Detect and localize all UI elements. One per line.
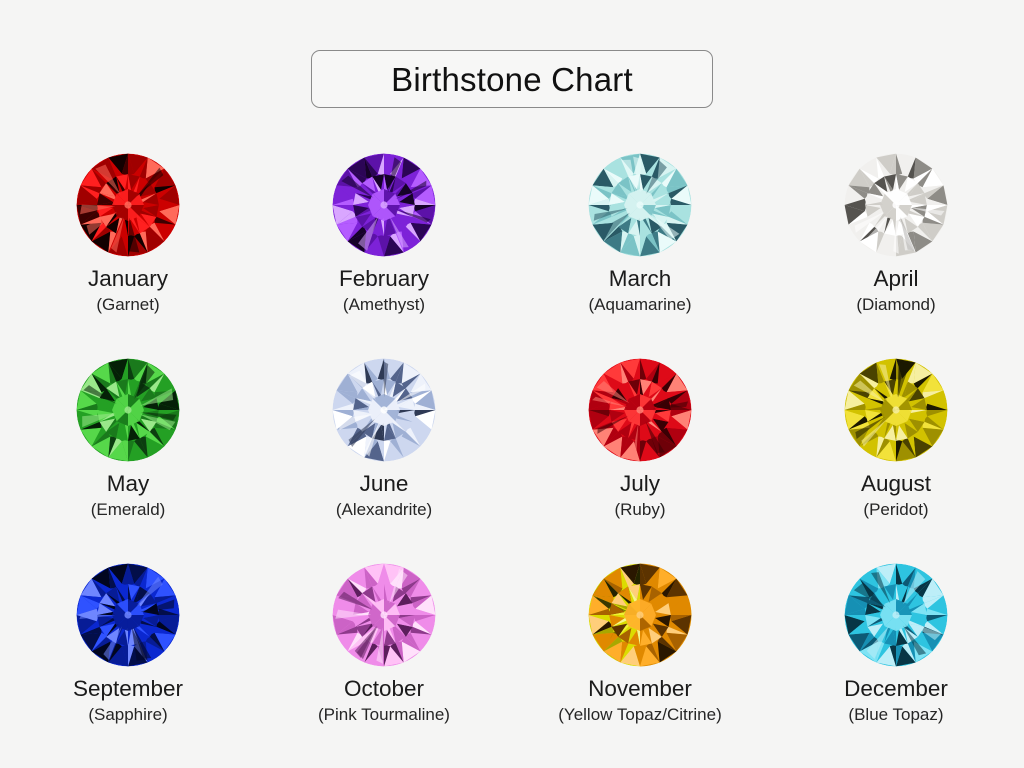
birthstone-stone-label: (Garnet) xyxy=(96,296,159,314)
birthstone-grid: January(Garnet)February(Amethyst)March(A… xyxy=(0,140,1024,755)
birthstone-cell-alexandrite[interactable]: June(Alexandrite) xyxy=(256,345,512,550)
birthstone-month-label: August xyxy=(861,472,931,496)
birthstone-month-label: July xyxy=(620,472,660,496)
birthstone-cell-garnet[interactable]: January(Garnet) xyxy=(0,140,256,345)
birthstone-cell-ruby[interactable]: July(Ruby) xyxy=(512,345,768,550)
birthstone-cell-peridot[interactable]: August(Peridot) xyxy=(768,345,1024,550)
birthstone-month-label: September xyxy=(73,677,183,701)
gem-garnet-icon xyxy=(75,152,181,258)
birthstone-month-label: February xyxy=(339,267,429,291)
birthstone-stone-label: (Diamond) xyxy=(856,296,935,314)
birthstone-cell-diamond[interactable]: April(Diamond) xyxy=(768,140,1024,345)
gem-amethyst-icon xyxy=(331,152,437,258)
birthstone-month-label: March xyxy=(609,267,672,291)
gem-peridot-icon xyxy=(843,357,949,463)
gem-pink-tourmaline-icon xyxy=(331,562,437,668)
birthstone-month-label: April xyxy=(873,267,918,291)
birthstone-stone-label: (Emerald) xyxy=(91,501,166,519)
birthstone-stone-label: (Pink Tourmaline) xyxy=(318,706,450,724)
birthstone-stone-label: (Aquamarine) xyxy=(589,296,692,314)
gem-yellow-topaz-citrine-icon xyxy=(587,562,693,668)
gem-aquamarine-icon xyxy=(587,152,693,258)
birthstone-month-label: June xyxy=(360,472,409,496)
birthstone-stone-label: (Amethyst) xyxy=(343,296,425,314)
birthstone-cell-amethyst[interactable]: February(Amethyst) xyxy=(256,140,512,345)
birthstone-stone-label: (Ruby) xyxy=(614,501,665,519)
gem-sapphire-icon xyxy=(75,562,181,668)
gem-alexandrite-icon xyxy=(331,357,437,463)
birthstone-cell-yellow-topaz-citrine[interactable]: November(Yellow Topaz/Citrine) xyxy=(512,550,768,755)
gem-blue-topaz-icon xyxy=(843,562,949,668)
gem-diamond-icon xyxy=(843,152,949,258)
page-title: Birthstone Chart xyxy=(391,63,633,96)
birthstone-cell-sapphire[interactable]: September(Sapphire) xyxy=(0,550,256,755)
birthstone-month-label: May xyxy=(107,472,150,496)
birthstone-month-label: January xyxy=(88,267,168,291)
birthstone-month-label: December xyxy=(844,677,948,701)
birthstone-cell-aquamarine[interactable]: March(Aquamarine) xyxy=(512,140,768,345)
birthstone-stone-label: (Yellow Topaz/Citrine) xyxy=(558,706,721,724)
gem-ruby-icon xyxy=(587,357,693,463)
birthstone-cell-blue-topaz[interactable]: December(Blue Topaz) xyxy=(768,550,1024,755)
gem-emerald-icon xyxy=(75,357,181,463)
birthstone-stone-label: (Blue Topaz) xyxy=(848,706,943,724)
birthstone-stone-label: (Sapphire) xyxy=(88,706,167,724)
birthstone-stone-label: (Peridot) xyxy=(863,501,928,519)
chart-title-box: Birthstone Chart xyxy=(311,50,713,108)
birthstone-stone-label: (Alexandrite) xyxy=(336,501,432,519)
birthstone-month-label: November xyxy=(588,677,692,701)
birthstone-cell-pink-tourmaline[interactable]: October(Pink Tourmaline) xyxy=(256,550,512,755)
birthstone-month-label: October xyxy=(344,677,424,701)
birthstone-cell-emerald[interactable]: May(Emerald) xyxy=(0,345,256,550)
